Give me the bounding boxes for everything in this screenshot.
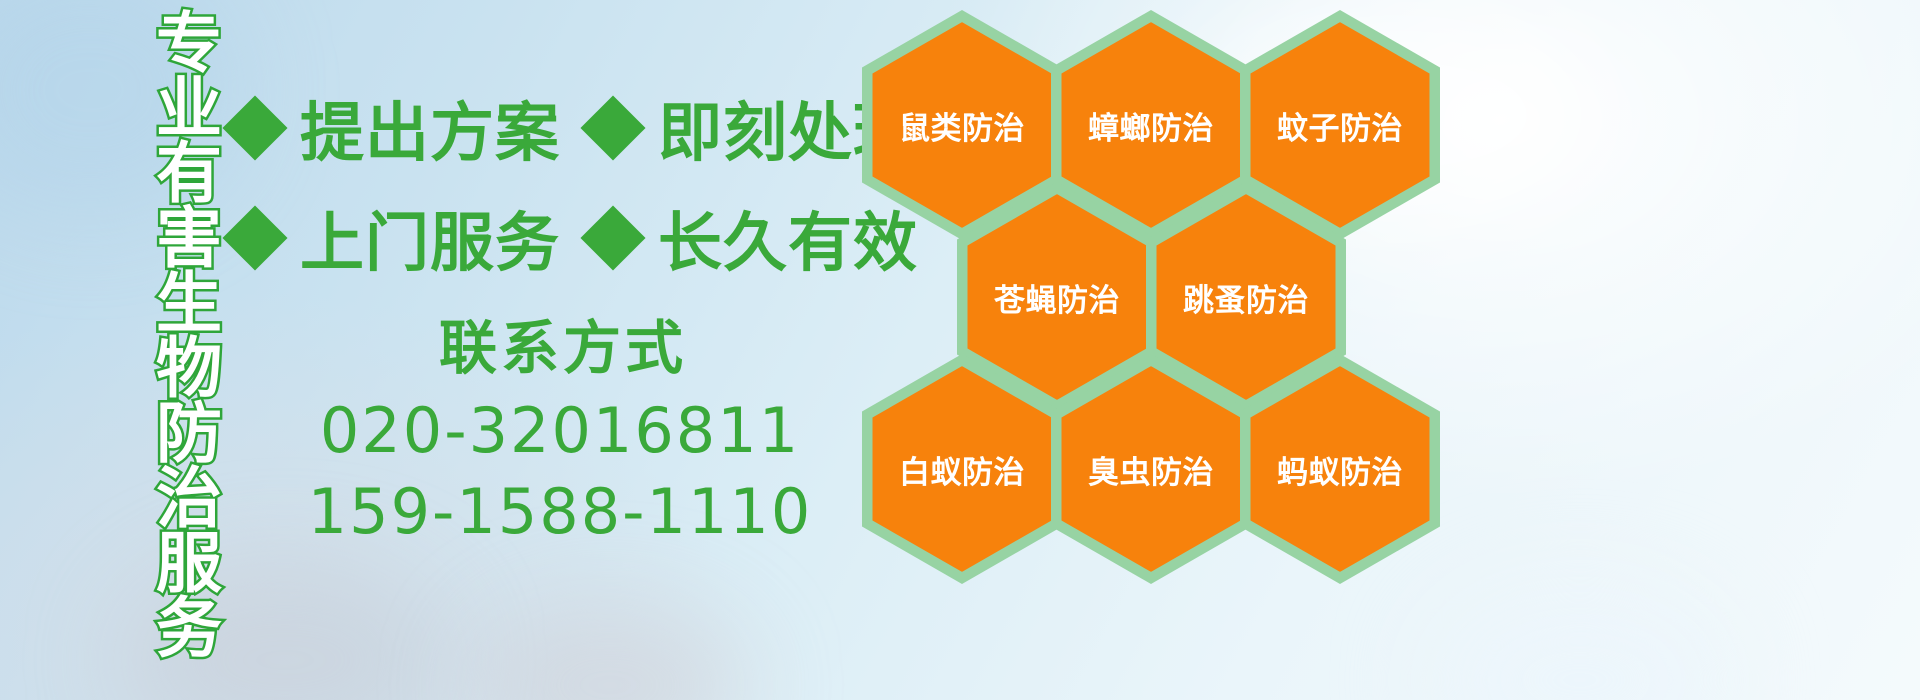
hex-cell-ant-control[interactable]: 蚂蚁防治 (1240, 354, 1440, 584)
feature-row-2: 上门服务 长久有效 (232, 192, 918, 284)
phone-number-mobile[interactable]: 159-1588-1110 (300, 472, 820, 551)
feature-row-1: 提出方案 即刻处理 (232, 82, 918, 174)
feature-label-onsite-service: 上门服务 (300, 192, 560, 284)
phone-number-landline[interactable]: 020-32016811 (300, 391, 820, 470)
background-blob-bottomcenter (470, 600, 750, 700)
hex-label: 白蚁防治 (862, 354, 1062, 584)
diamond-icon (580, 95, 645, 160)
diamond-icon (222, 205, 287, 270)
feature-label-propose-plan: 提出方案 (300, 82, 560, 174)
hex-label: 臭虫防治 (1051, 354, 1251, 584)
hex-cell-bedbug-control[interactable]: 臭虫防治 (1051, 354, 1251, 584)
hex-label: 蚂蚁防治 (1240, 354, 1440, 584)
promo-banner: 专业有害生物防治服务 提出方案 即刻处理 上门服务 长久有效 联系方式 020-… (0, 0, 1920, 700)
contact-block: 联系方式 020-32016811 159-1588-1110 (300, 318, 820, 552)
hex-cell-termite-control[interactable]: 白蚁防治 (862, 354, 1062, 584)
contact-heading: 联系方式 (306, 318, 820, 379)
vertical-title: 专业有害生物防治服务 (108, 8, 216, 668)
diamond-icon (222, 95, 287, 160)
diamond-icon (580, 205, 645, 270)
honeycomb-service-grid: 鼠类防治 蟑螂防治 蚊子防治 苍蝇防治 跳蚤防治 白蚁防治 (862, 0, 1920, 700)
